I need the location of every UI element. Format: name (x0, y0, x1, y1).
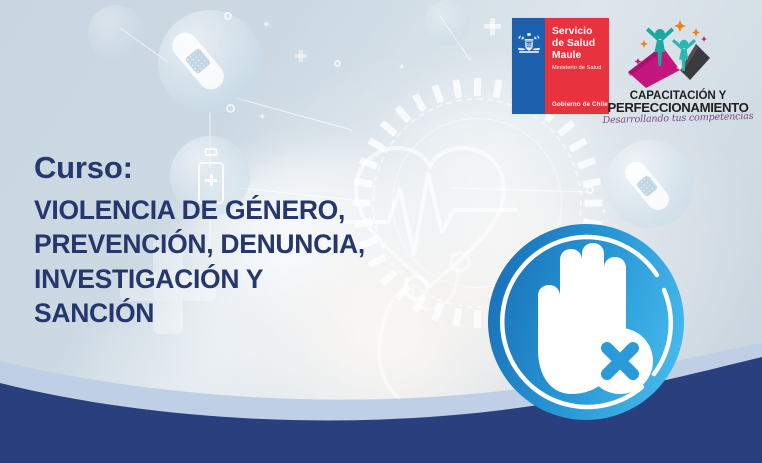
dot-circle-icon (334, 60, 341, 67)
dot-circle-icon (224, 12, 232, 20)
open-book-with-figures-icon (618, 18, 738, 90)
logo-line-3: Maule (552, 50, 609, 62)
page-title-line-3: INVESTIGACIÓN Y (34, 262, 365, 296)
sparkle-icon: ✦ (600, 206, 608, 217)
headline-block: Curso: VIOLENCIA DE GÉNERO, PREVENCIÓN, … (34, 152, 365, 331)
chile-coat-of-arms-icon (516, 30, 542, 56)
capacitacion-y-perfeccionamiento-logo: CAPACITACIÓN Y PERFECCIONAMIENTO Desarro… (618, 18, 738, 128)
logo-line-1: Servicio (552, 26, 609, 38)
dot-circle-icon (586, 186, 594, 194)
stop-hand-badge (486, 222, 686, 422)
logo-group: Servicio de Salud Maule Ministerio de Sa… (512, 18, 738, 128)
logo-ministry-label: Ministerio de Salud (552, 65, 609, 71)
minsal-text-block: Servicio de Salud Maule Ministerio de Sa… (545, 18, 609, 114)
medical-cross-icon (295, 50, 307, 62)
logo-line-2: de Salud (552, 38, 609, 50)
page-title: VIOLENCIA DE GÉNERO, PREVENCIÓN, DENUNCI… (34, 193, 365, 331)
sparkle-icon: ✦ (262, 18, 271, 31)
page-title-line-4: SANCIÓN (34, 296, 365, 330)
page-title-label: Curso: (34, 152, 365, 185)
sparkle-icon: ✦ (398, 62, 406, 73)
dot-circle-icon (226, 104, 235, 113)
course-banner: ✦ ✦ ✦ ✦ Curso: VIOLENCIA DE GÉNERO, PREV… (0, 0, 762, 463)
page-title-line-2: PREVENCIÓN, DENUNCIA, (34, 227, 365, 261)
chile-coat-of-arms-emblem (512, 18, 545, 114)
sparkle-icon: ✦ (258, 112, 266, 123)
circle-x-icon (587, 328, 653, 394)
medical-cross-icon (484, 18, 501, 35)
servicio-de-salud-maule-logo: Servicio de Salud Maule Ministerio de Sa… (512, 18, 609, 114)
logo-government-label: Gobierno de Chile (552, 101, 608, 108)
page-title-line-1: VIOLENCIA DE GÉNERO, (34, 193, 365, 227)
